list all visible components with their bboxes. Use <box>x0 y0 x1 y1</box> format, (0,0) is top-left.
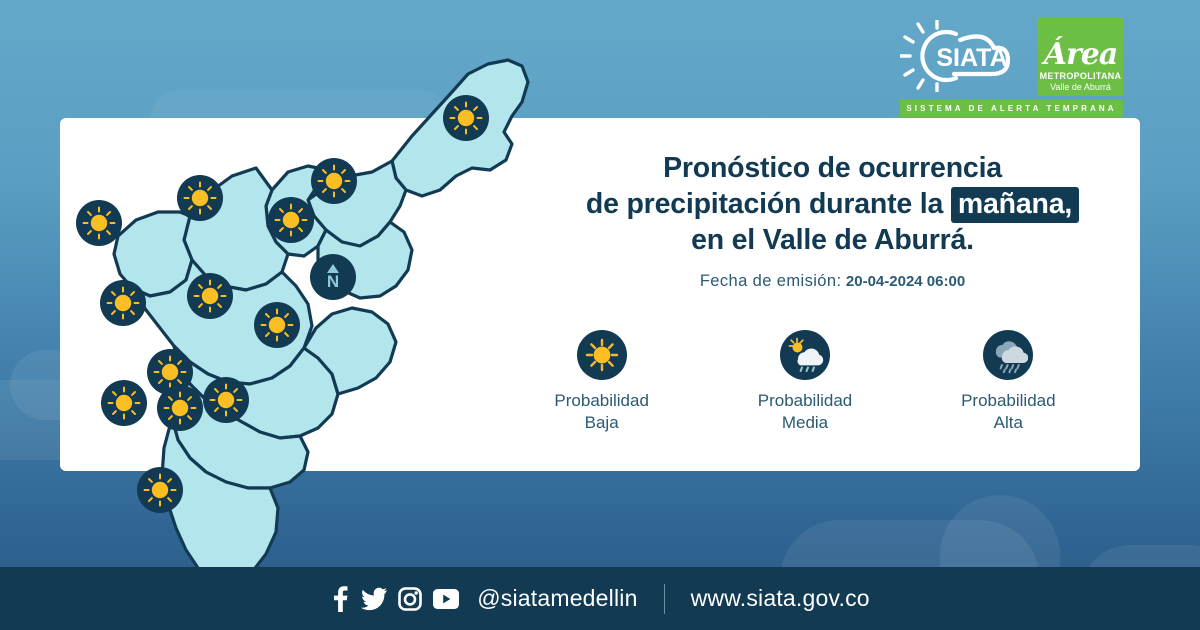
siata-wordmark: SIATA <box>936 44 1007 72</box>
title-line-2-prefix: de precipitación durante la <box>586 188 951 220</box>
tagline-banner: SISTEMA DE ALERTA TEMPRANA <box>900 100 1123 117</box>
legend-baja-line2: Baja <box>554 412 649 434</box>
website-url[interactable]: www.siata.gov.co <box>691 585 870 612</box>
sun-rain-cloud-icon <box>780 330 830 380</box>
rain-cloud-icon <box>983 330 1033 380</box>
legend-media-line2: Media <box>758 412 853 434</box>
legend-item-alta: Probabilidad Alta <box>907 330 1110 435</box>
legend-label-baja: Probabilidad Baja <box>554 390 649 435</box>
legend-baja-line1: Probabilidad <box>554 390 649 412</box>
map-marker-sun-icon <box>137 467 183 513</box>
area-metropolitana-logo: Área METROPOLITANA Valle de Aburrá <box>1038 18 1123 96</box>
legend-item-baja: Probabilidad Baja <box>500 330 703 435</box>
map-marker-sun-icon <box>443 95 489 141</box>
infographic-root: SIATA Área METROPOLITANA Valle de Aburrá… <box>0 0 1200 630</box>
title-line-3: en el Valle de Aburrá. <box>691 224 974 256</box>
map-marker-sun-icon <box>268 197 314 243</box>
issue-date-value: 20-04-2024 06:00 <box>846 273 965 290</box>
siata-logo-icon: SIATA <box>900 20 1030 92</box>
twitter-icon[interactable] <box>361 587 387 611</box>
legend-label-media: Probabilidad Media <box>758 390 853 435</box>
brand-header: SIATA Área METROPOLITANA Valle de Aburrá… <box>895 12 1130 112</box>
issue-date-label: Fecha de emisión: <box>700 272 842 290</box>
legend-alta-line2: Alta <box>961 412 1056 434</box>
map-marker-sun-icon <box>311 158 357 204</box>
facebook-icon[interactable] <box>330 586 350 612</box>
title-line-1: Pronóstico de ocurrencia <box>663 152 1002 184</box>
map-marker-sun-icon <box>187 273 233 319</box>
valle-de-aburra-map: N <box>60 40 530 585</box>
area-line1: METROPOLITANA <box>1040 72 1122 81</box>
area-line2: Valle de Aburrá <box>1050 82 1111 92</box>
instagram-icon[interactable] <box>398 587 422 611</box>
map-marker-sun-icon <box>101 380 147 426</box>
sun-icon <box>577 330 627 380</box>
area-script-text: Área <box>1044 40 1118 70</box>
issue-date: Fecha de emisión: 20-04-2024 06:00 <box>545 272 1120 291</box>
compass-north-icon: N <box>310 254 356 300</box>
legend-media-line1: Probabilidad <box>758 390 853 412</box>
legend-alta-line1: Probabilidad <box>961 390 1056 412</box>
social-links <box>330 586 459 612</box>
footer-divider <box>664 584 665 614</box>
social-handle[interactable]: @siatamedellin <box>477 585 637 612</box>
legend-label-alta: Probabilidad Alta <box>961 390 1056 435</box>
legend-item-media: Probabilidad Media <box>703 330 906 435</box>
map-marker-sun-icon <box>254 302 300 348</box>
probability-legend: Probabilidad Baja <box>500 330 1110 435</box>
title-highlight-period: mañana, <box>951 187 1079 223</box>
text-panel: Pronóstico de ocurrencia de precipitació… <box>545 150 1120 291</box>
page-title: Pronóstico de ocurrencia de precipitació… <box>545 150 1120 259</box>
footer-bar: @siatamedellin www.siata.gov.co <box>0 567 1200 630</box>
map-marker-sun-icon <box>157 385 203 431</box>
map-marker-sun-icon <box>203 377 249 423</box>
map-marker-sun-icon <box>76 200 122 246</box>
youtube-icon[interactable] <box>433 589 459 609</box>
map-marker-sun-icon <box>177 175 223 221</box>
map-marker-sun-icon <box>100 280 146 326</box>
